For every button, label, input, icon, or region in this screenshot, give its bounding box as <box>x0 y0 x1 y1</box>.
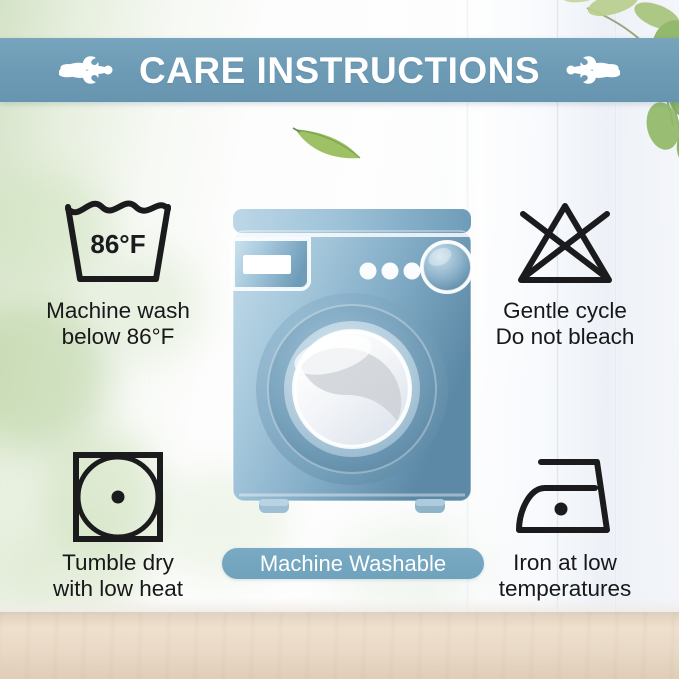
banner: CARE INSTRUCTIONS <box>0 38 679 102</box>
detergent-drawer <box>233 239 309 289</box>
iron-icon <box>511 452 619 540</box>
machine-door <box>256 293 448 485</box>
machine-top-lid <box>233 209 471 233</box>
machine-washable-badge: Machine Washable <box>222 548 484 579</box>
tumble-dry-icon-wrap <box>8 448 228 544</box>
care-label-iron: Iron at low temperatures <box>455 550 675 602</box>
wood-table-surface <box>0 612 679 679</box>
care-symbol-machine-wash: 86°F Machine wash below 86°F <box>8 196 228 350</box>
care-symbol-iron: Iron at low temperatures <box>455 448 675 602</box>
care-label-tumble-dry: Tumble dry with low heat <box>8 550 228 602</box>
control-buttons <box>360 263 421 280</box>
fleur-de-lis-icon <box>59 47 117 93</box>
tumble-dry-icon <box>70 449 166 543</box>
wash-temperature-value: 86°F <box>90 229 145 259</box>
care-instructions-infographic: CARE INSTRUCTIONS 86°F Machine w <box>0 0 679 679</box>
care-symbol-do-not-bleach: Gentle cycle Do not bleach <box>455 196 675 350</box>
washing-machine-illustration <box>229 209 475 534</box>
care-symbol-tumble-dry: Tumble dry with low heat <box>8 448 228 602</box>
floating-leaf-icon <box>292 122 364 162</box>
care-label-do-not-bleach: Gentle cycle Do not bleach <box>455 298 675 350</box>
control-knob <box>420 240 474 294</box>
triangle-crossed-out-icon <box>513 198 617 290</box>
care-label-machine-wash: Machine wash below 86°F <box>8 298 228 350</box>
iron-icon-wrap <box>455 448 675 544</box>
triangle-crossed-out-icon-wrap <box>455 196 675 292</box>
wash-tub-icon: 86°F <box>60 197 176 291</box>
wash-tub-icon-wrap: 86°F <box>8 196 228 292</box>
fleur-de-lis-icon <box>562 47 620 93</box>
machine-washable-badge-label: Machine Washable <box>260 553 446 575</box>
banner-title: CARE INSTRUCTIONS <box>139 52 540 89</box>
